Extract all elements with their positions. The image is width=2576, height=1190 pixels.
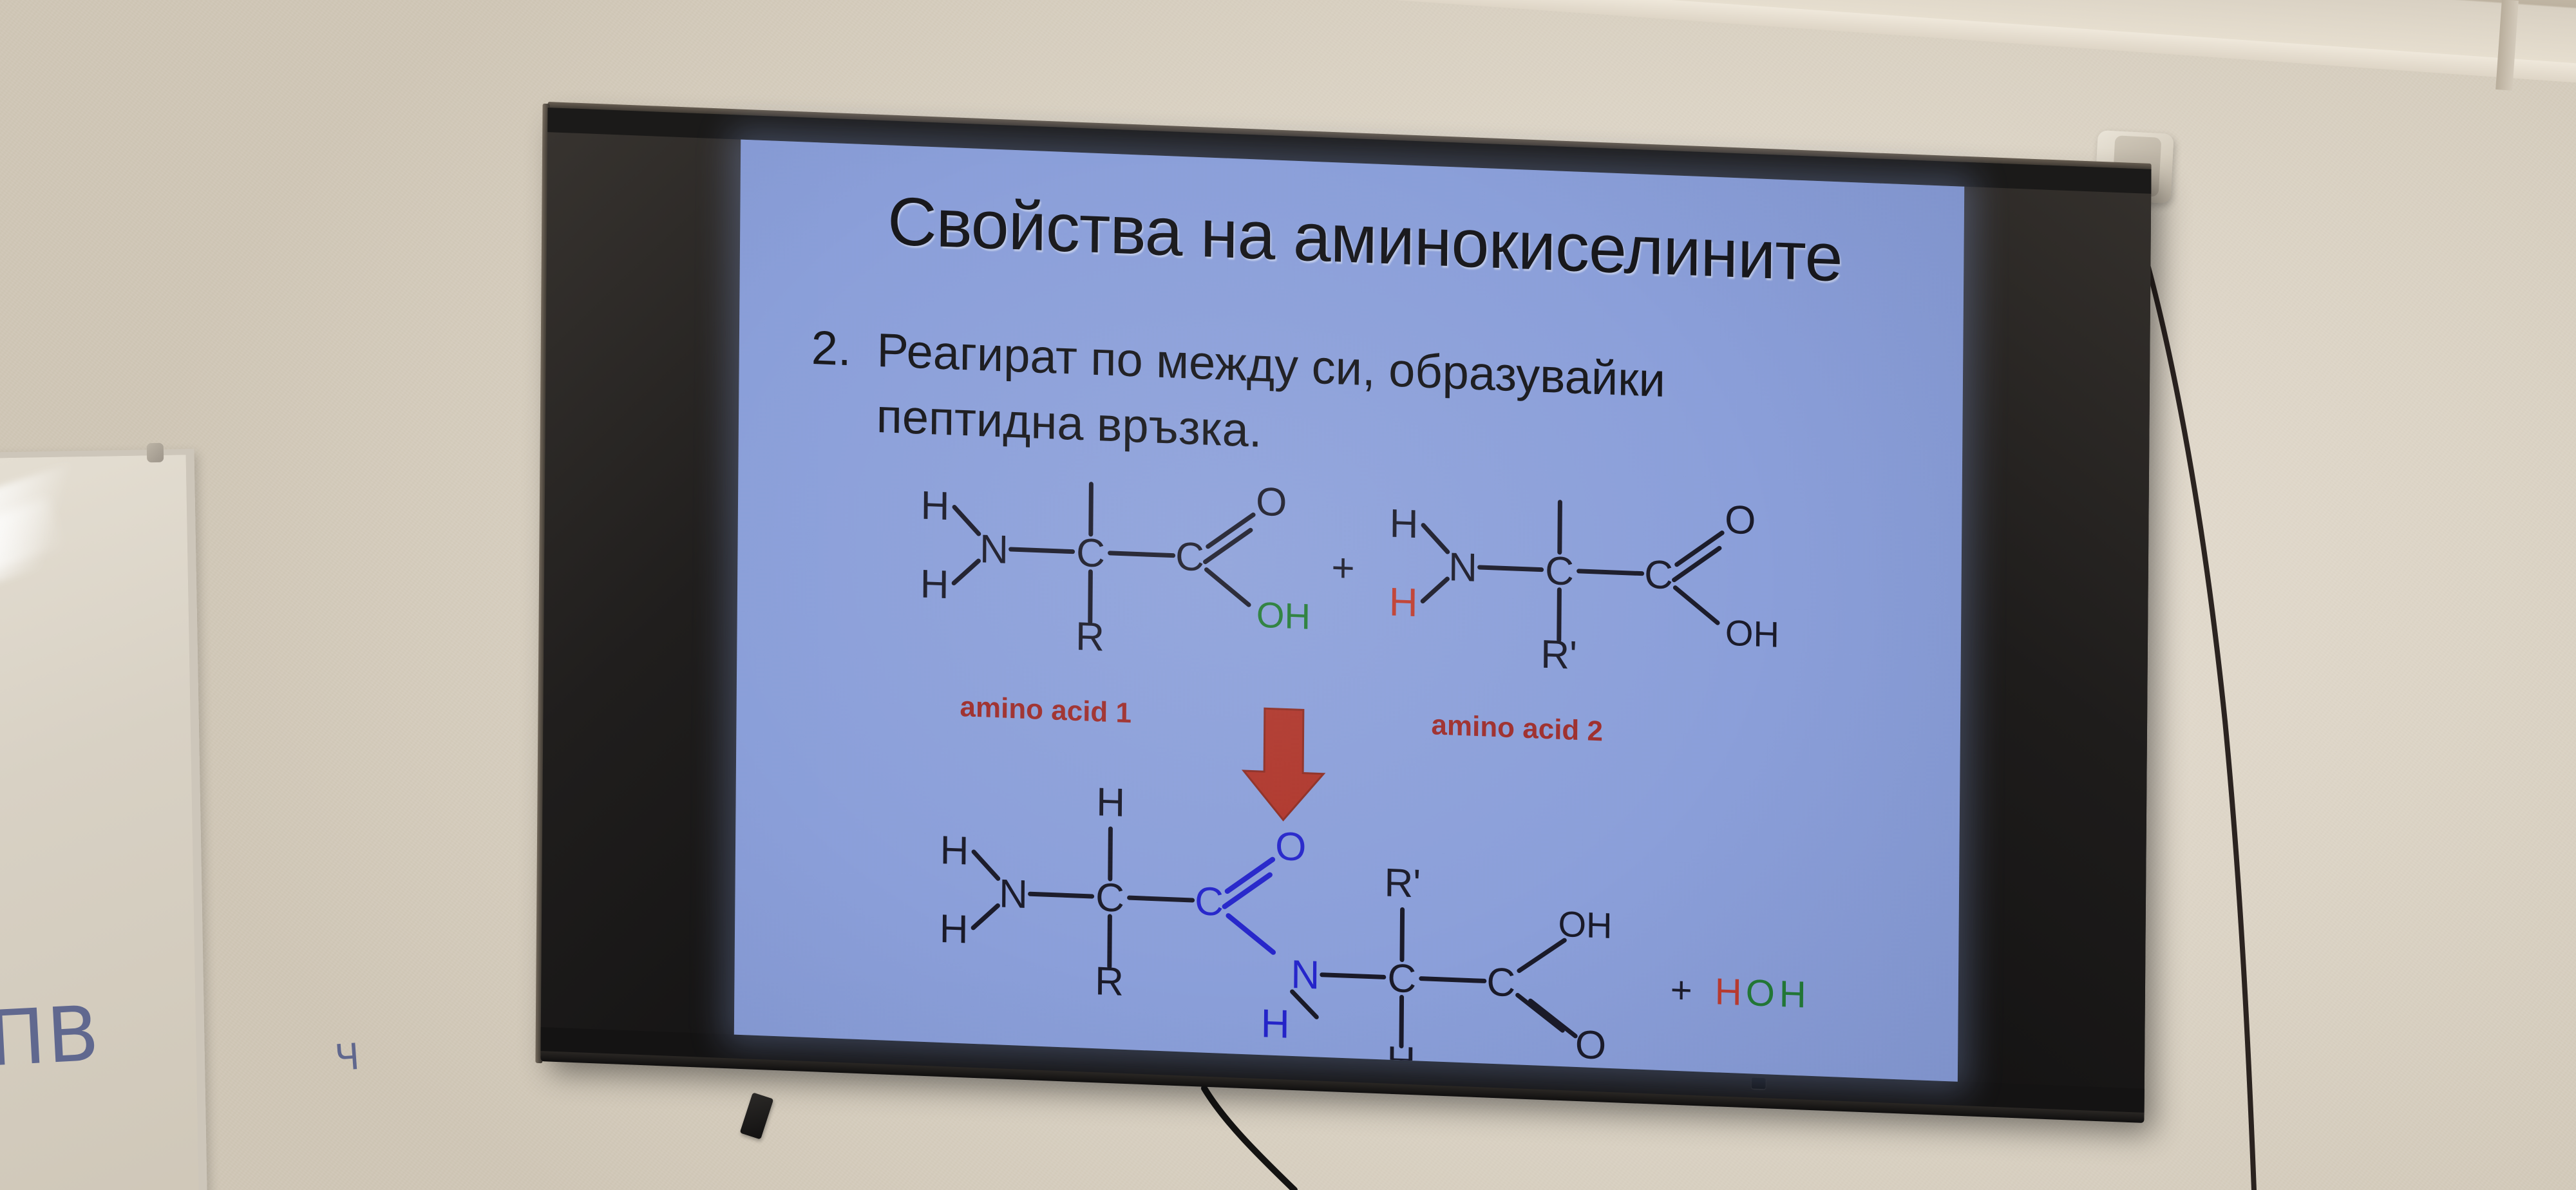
classroom-scene: ПВ Ч Свойства на аминокиселините 2. Реаг… [0,0,2576,1190]
atom-n: N [980,527,1009,572]
peptide-group-atoms: C O N H [1194,821,1321,1048]
plus-sign-reactants: + [1331,545,1355,590]
reactant-2-reactive-hydrogen: H [1389,580,1418,626]
atom-r-prime: R' [1384,860,1421,906]
atom-h: H [1389,502,1418,547]
letterbox-bar-left [540,108,741,1065]
atom-n: N [1448,545,1477,590]
atom-c: C [1387,956,1416,1002]
water-h-2: H [1779,973,1806,1016]
atom-c: C [1644,552,1673,598]
atom-n-peptide: N [1291,952,1320,998]
atom-h: H [1096,780,1125,826]
plus-sign-byproduct: + [1671,969,1692,1012]
atom-oh: OH [1558,903,1612,946]
bullet-number: 2. [811,315,851,448]
atom-o: O [1725,498,1756,543]
atom-h: H [1077,462,1106,481]
atom-r-prime: R' [1540,632,1577,678]
atom-h-peptide: H [1261,1001,1290,1047]
atom-o-peptide: O [1275,824,1307,870]
water-h-1: H [1715,970,1742,1014]
slide-title: Свойства на аминокиселините [817,180,1913,299]
atom-c: C [1486,960,1515,1006]
atom-h: H [940,828,969,874]
peptide-bond-highlight [1224,858,1274,952]
atom-h: H [920,562,949,608]
atom-r: R [1095,959,1124,1005]
caption-amino-acid-2: amino acid 2 [1431,709,1603,747]
product-bonds-2 [1292,905,1577,1053]
atom-c: C [1095,875,1124,921]
atom-o: O [1575,1023,1607,1068]
atom-o: O [1256,480,1287,525]
atom-c-peptide: C [1195,879,1224,925]
atom-n: N [999,871,1028,917]
wall-mounted-television[interactable]: Свойства на аминокиселините 2. Реагират … [540,108,2151,1119]
reaction-arrow-down [1244,708,1324,822]
atom-r: R [1075,614,1104,660]
tv-ir-receiver [1752,1077,1766,1089]
caption-amino-acid-1: amino acid 1 [960,691,1132,729]
atom-c: C [1076,531,1105,576]
slide-bullet: 2. Реагират по между си, образувайки пеп… [811,315,1842,486]
atom-c: C [1175,534,1204,580]
atom-h: H [939,907,968,952]
bullet-text: Реагират по между си, образувайки пептид… [876,317,1842,486]
atom-h: H [920,484,949,529]
reactant-2-atoms: H N C H R' C O OH [1388,462,1781,686]
atom-oh: OH [1725,612,1779,655]
peptide-bond-reaction-diagram: H H N C H R C O OH + [734,462,1962,1082]
water-o: O [1746,972,1776,1015]
atom-c: C [1545,549,1574,594]
reactant-1-hydroxyl: OH [1256,594,1311,637]
presentation-slide: Свойства на аминокиселините 2. Реагират … [734,140,1964,1082]
letterbox-bar-right [1957,162,2151,1119]
byproduct-water: H O H [1715,970,1806,1015]
